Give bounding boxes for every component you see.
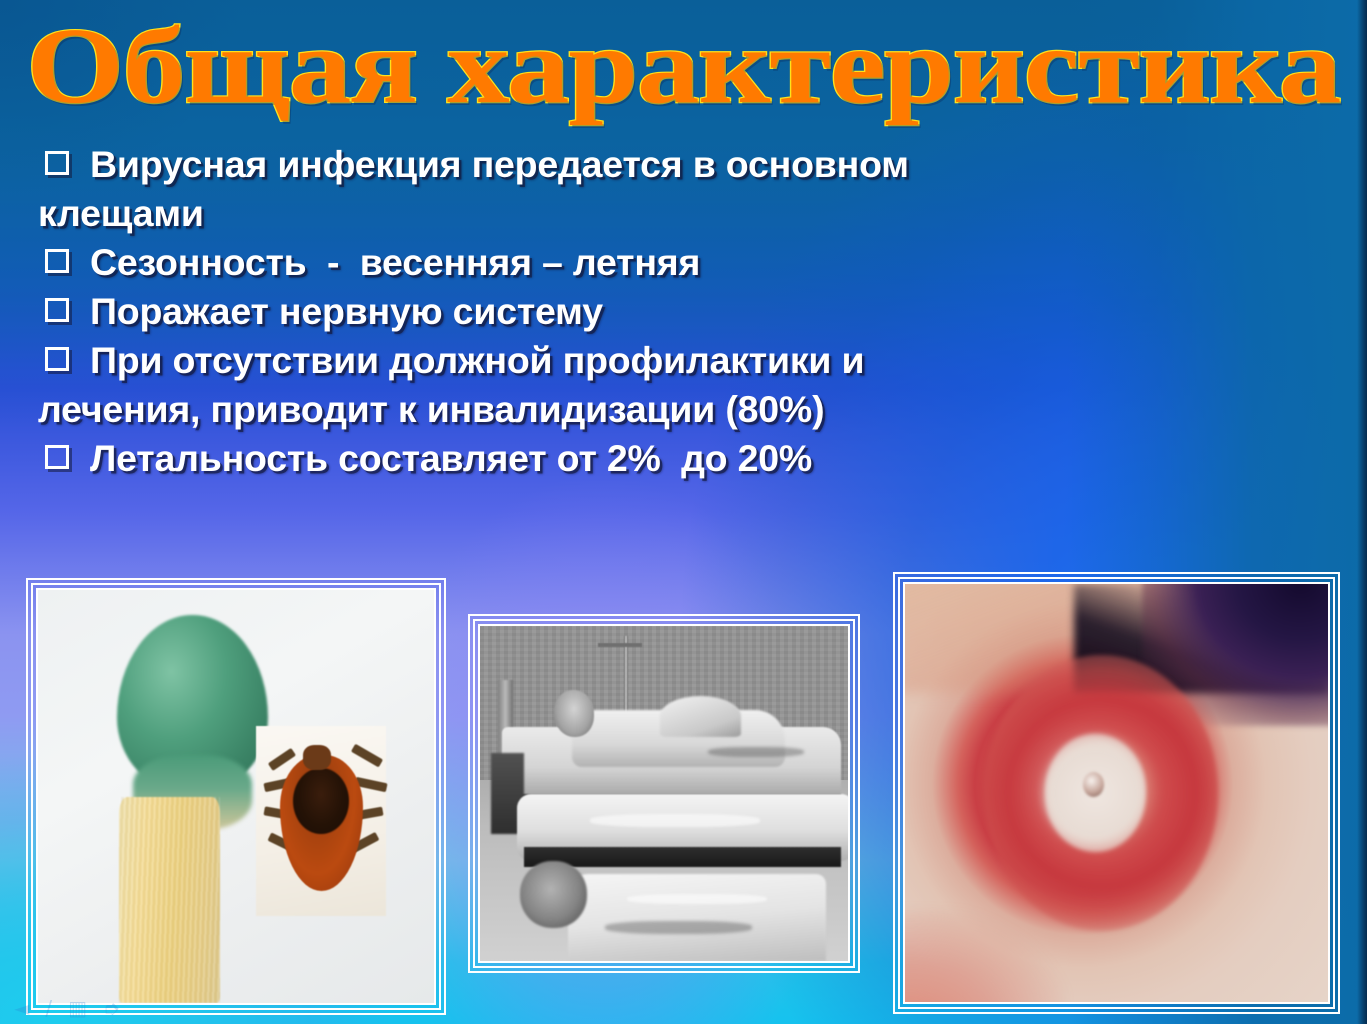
tick-scutum-shape bbox=[293, 768, 348, 834]
square-bullet-icon bbox=[45, 249, 69, 273]
list-item: Вирусная инфекция передается в основном bbox=[38, 140, 1268, 189]
bullet-text: Поражает нервную систему bbox=[90, 287, 603, 336]
bullet-text-continued: клещами bbox=[38, 189, 1268, 238]
bullet-text: Сезонность - весенняя – летняя bbox=[90, 238, 700, 287]
list-item: Сезонность - весенняя – летняя bbox=[38, 238, 1268, 287]
square-bullet-icon bbox=[45, 445, 69, 469]
list-item: Поражает нервную систему bbox=[38, 287, 1268, 336]
lower-patient-head bbox=[520, 861, 586, 928]
bullet-text: При отсутствии должной профилактики и bbox=[90, 336, 864, 385]
presentation-slide: Общая характеристика Вирусная инфекция п… bbox=[0, 0, 1367, 1024]
erythema-migrans-photo-frame bbox=[893, 572, 1340, 1014]
bullet-list: Вирусная инфекция передается в основном … bbox=[38, 140, 1268, 483]
slash-icon: / bbox=[45, 998, 52, 1018]
square-bullet-icon bbox=[45, 151, 69, 175]
back-arrow-icon: ◄ bbox=[14, 998, 29, 1018]
tick-bite-point bbox=[1083, 772, 1104, 797]
navigation-watermarks: ◄ / ▥ ➮ bbox=[14, 998, 120, 1018]
sheet-fold bbox=[590, 814, 759, 827]
page-title: Общая характеристика bbox=[27, 13, 1341, 121]
bullet-text: Летальность составляет от 2% до 20% bbox=[90, 434, 812, 483]
lower-bed-frame bbox=[524, 847, 840, 867]
lower-patient-body bbox=[568, 874, 826, 961]
list-item: Летальность составляет от 2% до 20% bbox=[38, 434, 1268, 483]
hospital-patients-photo bbox=[480, 626, 848, 961]
tick-size-comparison-photo bbox=[38, 590, 434, 1003]
slide-title-container: Общая характеристика bbox=[0, 6, 1367, 128]
tick-size-comparison-photo-frame bbox=[26, 578, 446, 1015]
sheet-shadow bbox=[605, 921, 752, 934]
bullet-text: Вирусная инфекция передается в основном bbox=[90, 140, 909, 189]
forward-arrow-icon: ➮ bbox=[103, 998, 120, 1018]
square-bullet-icon bbox=[45, 298, 69, 322]
tick-capitulum-shape bbox=[303, 745, 331, 770]
sheet-fold bbox=[627, 894, 767, 904]
upper-patient-knees bbox=[660, 696, 741, 736]
sheet-shadow bbox=[708, 747, 804, 757]
grid-icon: ▥ bbox=[68, 998, 87, 1018]
match-stick-shape bbox=[119, 797, 220, 1004]
erythema-migrans-photo bbox=[905, 584, 1328, 1002]
list-item: При отсутствии должной профилактики и bbox=[38, 336, 1268, 385]
bullet-text-continued: лечения, приводит к инвалидизации (80%) bbox=[38, 385, 1268, 434]
square-bullet-icon bbox=[45, 347, 69, 371]
lower-skin-fold bbox=[905, 910, 1066, 1002]
iv-stand-arm bbox=[598, 643, 642, 648]
upper-patient-head bbox=[554, 690, 594, 737]
hospital-patients-photo-frame bbox=[468, 614, 860, 973]
